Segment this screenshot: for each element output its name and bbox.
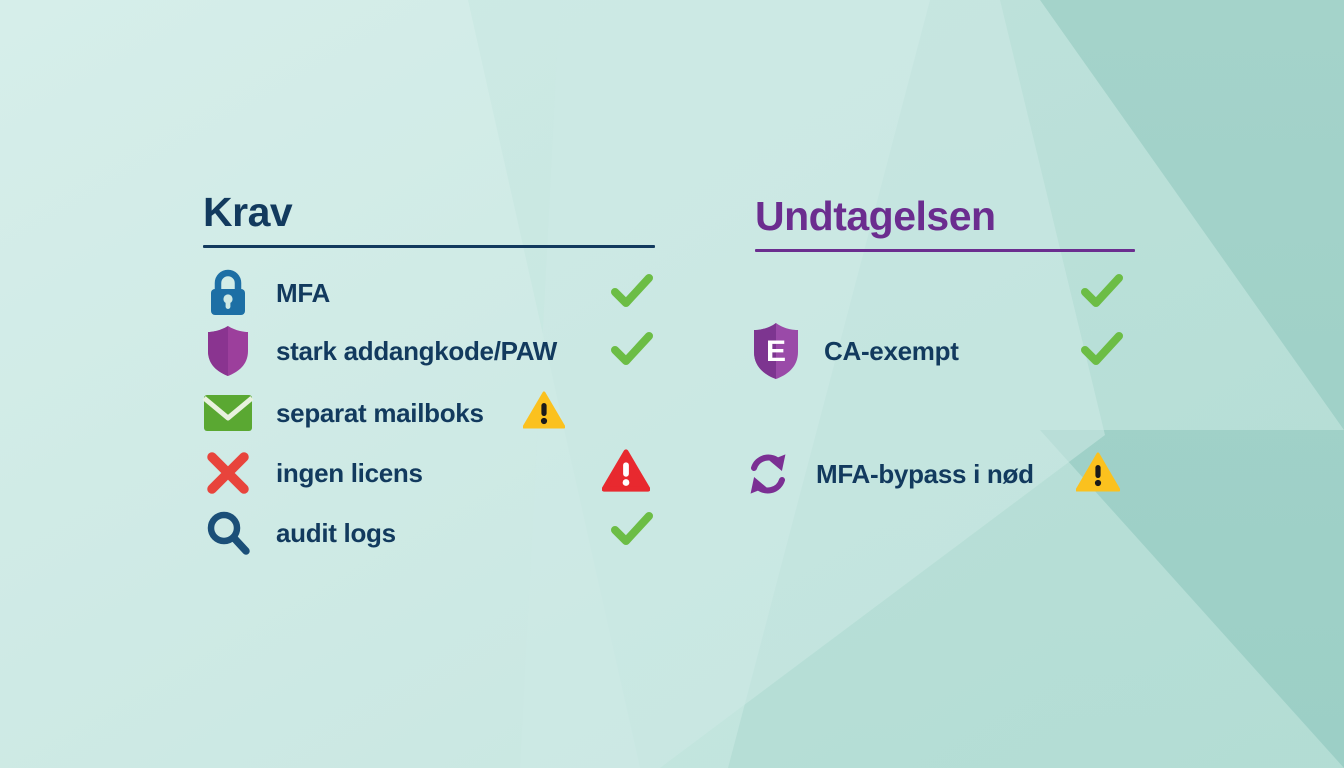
list-item-label: MFA-bypass i nød <box>816 459 1034 490</box>
list-item-label: CA-exempt <box>824 336 959 367</box>
status-badge-check <box>608 326 656 374</box>
infographic-canvas: Krav MFA stark addangkode/PAW <box>0 0 1344 768</box>
list-item-label: MFA <box>276 278 330 309</box>
svg-text:E: E <box>766 335 786 368</box>
sync-arrows-icon <box>740 448 796 500</box>
list-item-strong-password[interactable]: stark addangkode/PAW <box>200 322 557 380</box>
list-item-label: ingen licens <box>276 458 423 489</box>
list-item-no-license[interactable]: ingen licens <box>200 444 423 502</box>
divider-undtagelsen <box>755 249 1135 252</box>
list-item-ca-exempt[interactable]: E CA-exempt <box>748 322 959 380</box>
lock-icon <box>200 268 256 318</box>
status-badge-check <box>1078 326 1126 374</box>
list-item-mfa-bypass[interactable]: MFA-bypass i nød <box>740 445 1034 503</box>
list-item-separate-mailbox[interactable]: separat mailboks <box>200 384 484 442</box>
status-badge-warning <box>520 386 568 434</box>
status-badge-check <box>608 506 656 554</box>
status-badge-check <box>1078 268 1126 316</box>
list-item-audit-logs[interactable]: audit logs <box>200 504 396 562</box>
divider-krav <box>203 245 655 248</box>
page-title-undtagelsen: Undtagelsen <box>755 196 1155 237</box>
status-badge-warning <box>1074 448 1122 496</box>
status-badge-check <box>608 268 656 316</box>
shield-icon <box>200 324 256 378</box>
magnifier-icon <box>200 509 256 557</box>
page-title-krav: Krav <box>203 192 663 233</box>
status-badge-alert <box>602 446 650 494</box>
list-item-mfa[interactable]: MFA <box>200 264 330 322</box>
column-krav: Krav <box>203 192 663 248</box>
x-mark-icon <box>200 450 256 496</box>
envelope-icon <box>200 393 256 433</box>
list-item-label: stark addangkode/PAW <box>276 336 557 367</box>
list-item-label: separat mailboks <box>276 398 484 429</box>
column-undtagelsen: Undtagelsen <box>755 196 1155 252</box>
shield-e-icon: E <box>748 321 804 381</box>
list-item-label: audit logs <box>276 518 396 549</box>
